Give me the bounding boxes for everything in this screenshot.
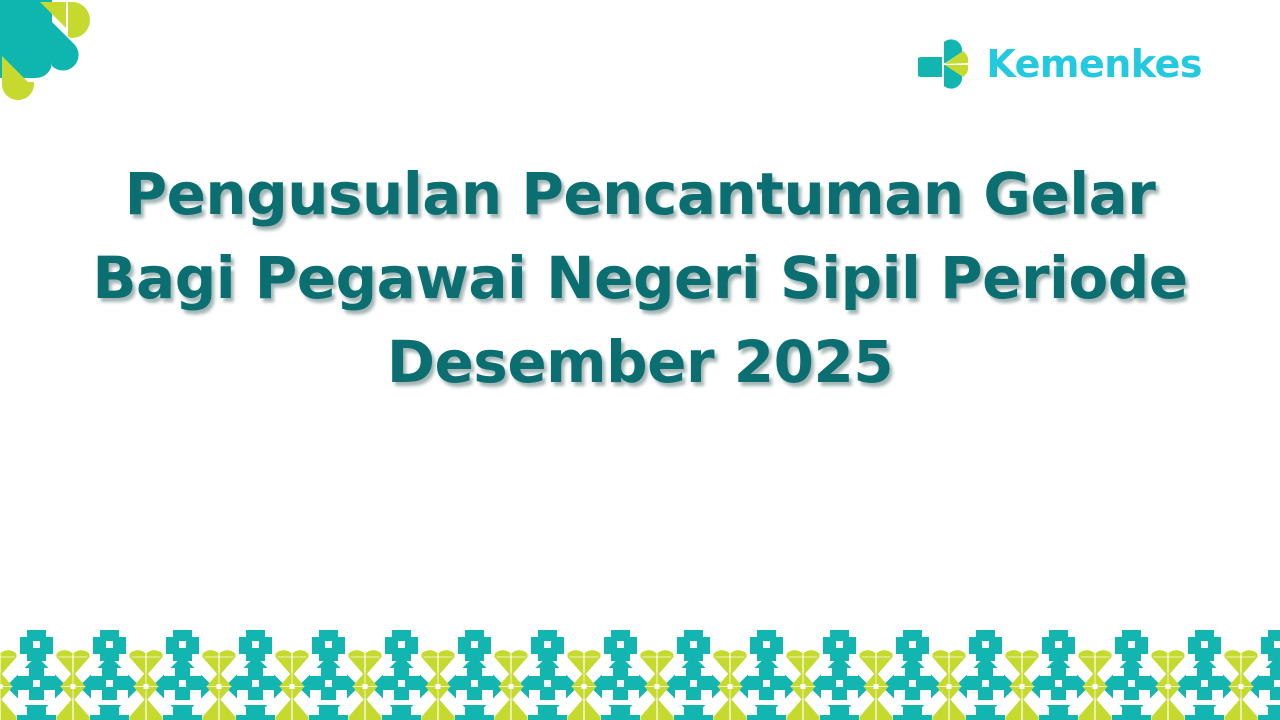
title-line-3: Desember 2025 <box>0 320 1280 404</box>
batik-motif-border-icon <box>0 624 1280 720</box>
kemenkes-clover-k-icon <box>918 36 974 92</box>
title-line-1: Pengusulan Pencantuman Gelar <box>0 152 1280 236</box>
title-line-2: Bagi Pegawai Negeri Sipil Periode <box>0 236 1280 320</box>
slide-canvas: Kemenkes Pengusulan Pencantuman Gelar Ba… <box>0 0 1280 720</box>
kemenkes-logo: Kemenkes <box>918 36 1202 92</box>
kemenkes-wordmark: Kemenkes <box>986 45 1202 83</box>
page-title: Pengusulan Pencantuman Gelar Bagi Pegawa… <box>0 152 1280 404</box>
corner-geometric-ornament-icon <box>0 0 100 100</box>
